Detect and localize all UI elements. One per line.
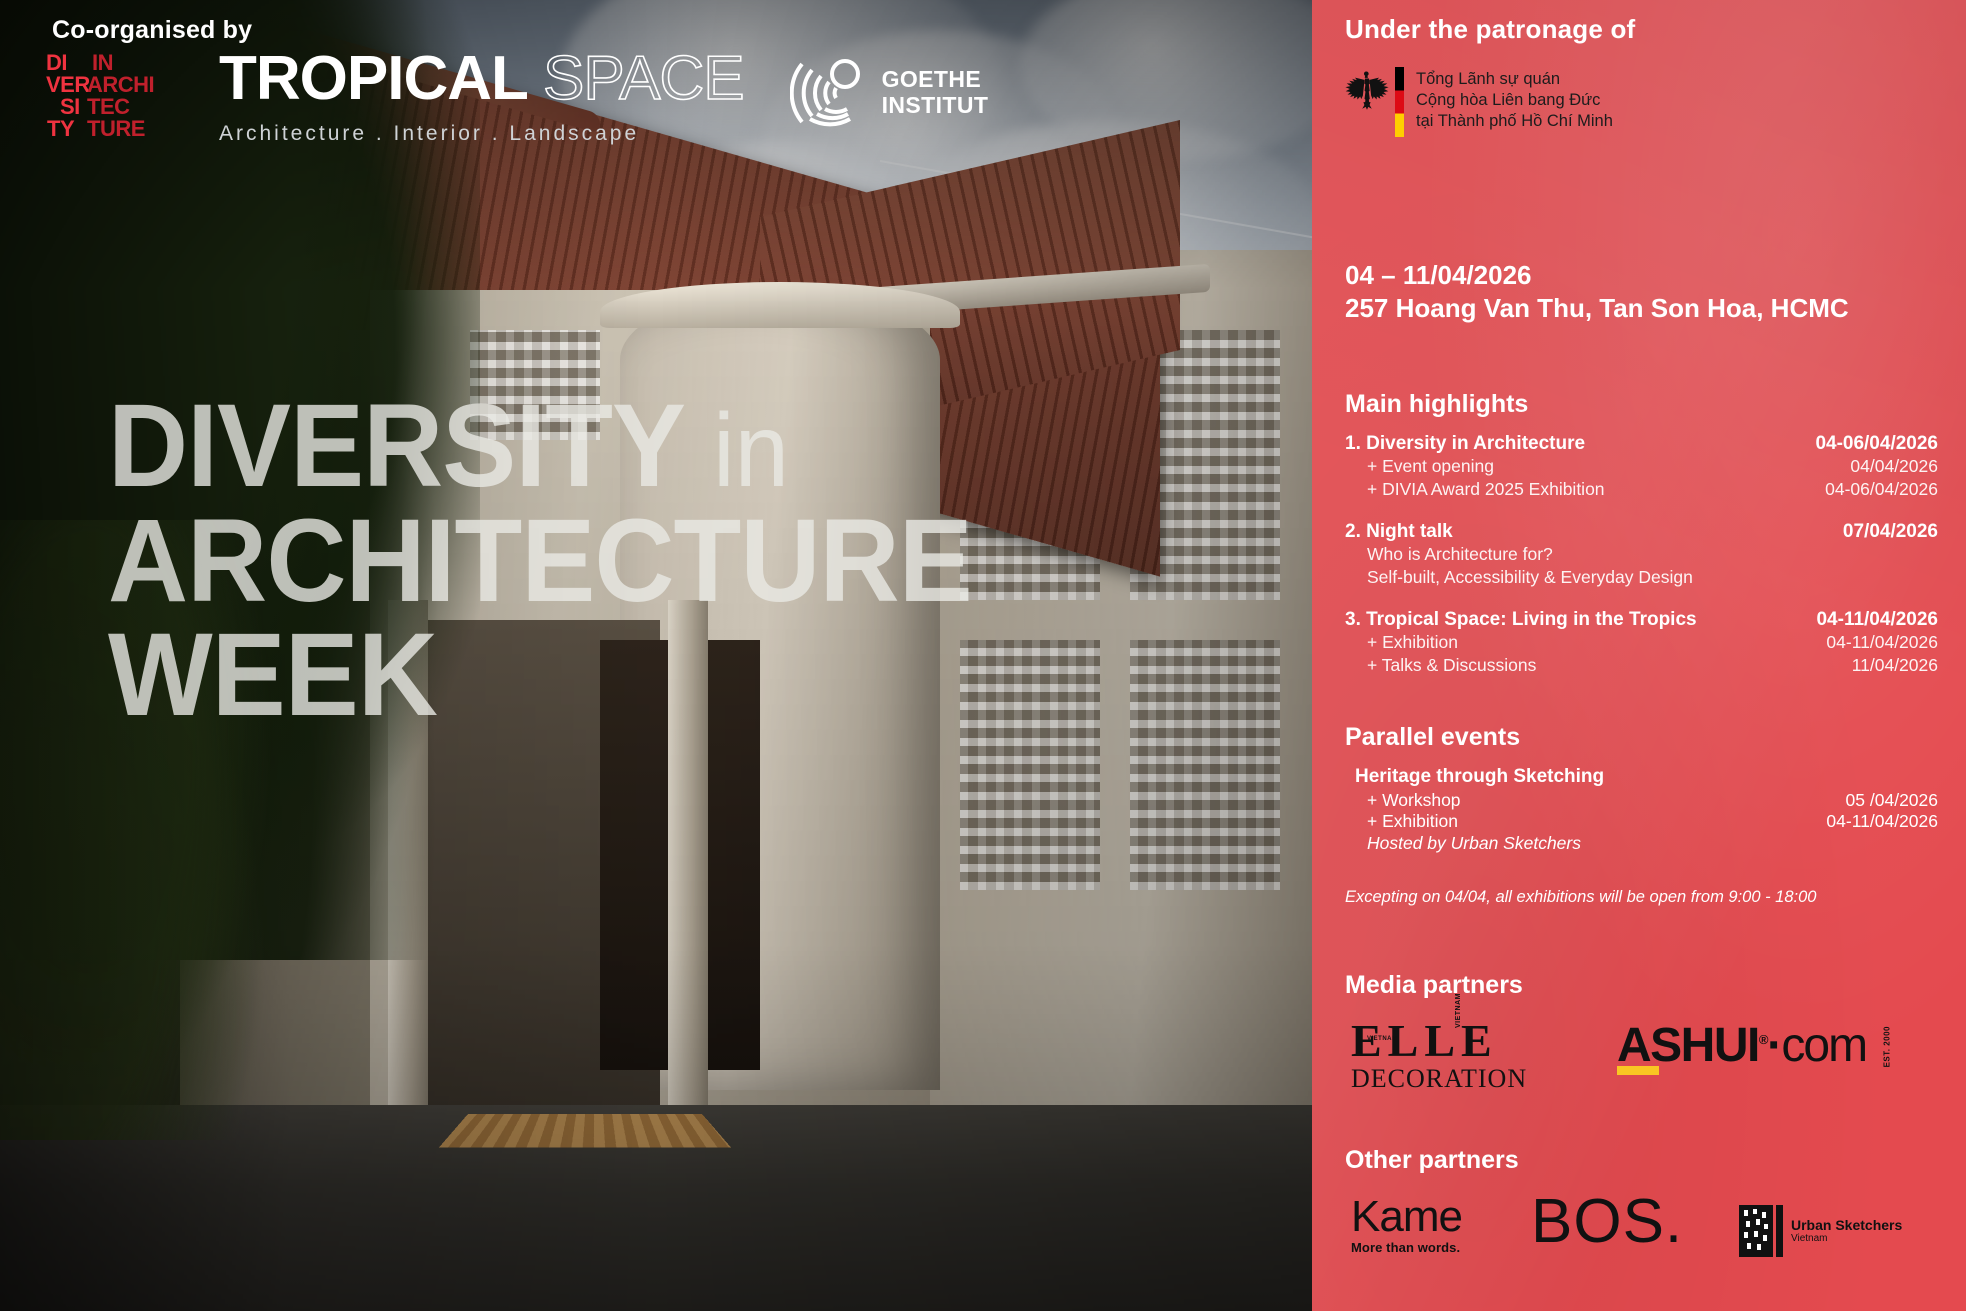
title-word-in: in xyxy=(713,393,789,509)
tropical-space-tagline: Architecture . Interior . Landscape xyxy=(219,122,744,146)
tropical-space-logo: TROPICAL SPACE Architecture . Interior .… xyxy=(219,48,744,146)
consulate-line-2: Cộng hòa Liên bang Đức xyxy=(1416,90,1613,111)
parallel-event-row-2-date: 04-11/04/2026 xyxy=(1826,811,1938,832)
divia-left-line-1: DI xyxy=(46,52,67,74)
urban-sketchers-bar xyxy=(1776,1205,1783,1257)
highlight-1-sub-1-label: + Event opening xyxy=(1367,455,1494,478)
consulate-line-3: tại Thành phố Hồ Chí Minh xyxy=(1416,111,1613,132)
goethe-arcs-icon xyxy=(790,56,868,130)
event-address: 257 Hoang Van Thu, Tan Son Hoa, HCMC xyxy=(1345,292,1938,325)
parallel-event-host: Hosted by Urban Sketchers xyxy=(1345,833,1938,854)
elle-decoration-logo: ELLE VIETNAM VIETNAM DECORATION xyxy=(1351,1018,1527,1092)
media-partners-logos: ELLE VIETNAM VIETNAM DECORATION ASHUI®·c… xyxy=(1345,1014,1938,1100)
ashui-wordmark: ASHUI®·com xyxy=(1617,1022,1866,1070)
consulate-line-1: Tổng Lãnh sự quán xyxy=(1416,69,1613,90)
german-consulate-block: Tổng Lãnh sự quán Cộng hòa Liên bang Đức… xyxy=(1345,67,1938,137)
parallel-event-row-1-label: + Workshop xyxy=(1367,790,1461,811)
urban-sketchers-wordmark: Urban Sketchers Vietnam xyxy=(1791,1218,1902,1244)
ashui-com-logo: ASHUI®·com EST. 2000 xyxy=(1617,1022,1866,1075)
highlight-3-sub-1: + Exhibition 04-11/04/2026 xyxy=(1345,631,1938,654)
highlight-3-sub-2-date: 11/04/2026 xyxy=(1852,654,1938,677)
ashui-dot: · xyxy=(1767,1019,1781,1072)
poster: Co-organised by DI VER SI TY IN ARCHI TE… xyxy=(0,0,1966,1311)
patronage-title: Under the patronage of xyxy=(1345,14,1938,45)
elle-country-left: VIETNAM xyxy=(1367,1036,1398,1042)
highlight-1-sub-2-label: + DIVIA Award 2025 Exhibition xyxy=(1367,478,1605,501)
highlight-2-line-1: Who is Architecture for? xyxy=(1345,543,1938,566)
highlight-3-sub-1-date: 04-11/04/2026 xyxy=(1826,631,1938,654)
kame-logo: Kame More than words. xyxy=(1351,1195,1462,1255)
german-flag-bar xyxy=(1395,67,1404,137)
highlight-3-sub-1-label: + Exhibition xyxy=(1367,631,1458,654)
highlight-item-1: 1. Diversity in Architecture 04-06/04/20… xyxy=(1345,433,1938,501)
highlight-1-date: 04-06/04/2026 xyxy=(1815,433,1938,455)
elle-wordmark: ELLE VIETNAM VIETNAM xyxy=(1351,1018,1527,1064)
highlight-3-title-row: 3. Tropical Space: Living in the Tropics… xyxy=(1345,609,1938,631)
elle-country-right: VIETNAM xyxy=(1455,993,1462,1028)
highlight-2-title: 2. Night talk xyxy=(1345,521,1453,543)
event-when-where: 04 – 11/04/2026 257 Hoang Van Thu, Tan S… xyxy=(1345,259,1938,326)
goethe-institut-logo: GOETHE INSTITUT xyxy=(790,56,989,130)
organiser-logo-bar: DI VER SI TY IN ARCHI TEC TURE TROPICAL … xyxy=(46,52,988,150)
other-partners-heading: Other partners xyxy=(1345,1146,1938,1175)
title-word-diversity: DIVERSITY xyxy=(108,380,683,512)
urban-sketchers-mark-icon xyxy=(1739,1205,1773,1257)
title-line-1: DIVERSITY in xyxy=(108,392,1217,501)
divia-left-line-4: TY xyxy=(47,118,74,140)
co-organised-label: Co-organised by xyxy=(52,16,252,45)
tropical-word: TROPICAL xyxy=(219,44,527,113)
media-partners-heading: Media partners xyxy=(1345,971,1938,1000)
space-word: SPACE xyxy=(543,44,744,113)
german-eagle-icon xyxy=(1345,67,1389,113)
ashui-bold: ASHUI xyxy=(1617,1019,1759,1072)
highlight-2-line-2: Self-built, Accessibility & Everyday Des… xyxy=(1345,566,1938,589)
spacer xyxy=(1345,589,1938,607)
parallel-event-row-2-label: + Exhibition xyxy=(1367,811,1458,832)
divia-logo: DI VER SI TY IN ARCHI TEC TURE xyxy=(46,52,171,142)
divia-right-line-1: IN xyxy=(92,52,113,74)
urban-sketchers-logo: Urban Sketchers Vietnam xyxy=(1739,1205,1902,1257)
page-title: DIVERSITY in ARCHITECTURE WEEK xyxy=(108,392,1288,730)
highlight-1-sub-1-date: 04/04/2026 xyxy=(1850,455,1938,478)
ashui-com: com xyxy=(1781,1019,1866,1072)
urban-sketchers-name: Urban Sketchers xyxy=(1791,1218,1902,1233)
kame-tagline: More than words. xyxy=(1351,1240,1462,1255)
opening-hours-note: Excepting on 04/04, all exhibitions will… xyxy=(1345,888,1938,907)
highlight-2-title-row: 2. Night talk 07/04/2026 xyxy=(1345,521,1938,543)
highlight-1-title: 1. Diversity in Architecture xyxy=(1345,433,1585,455)
bos-logo: BOS. xyxy=(1531,1191,1683,1253)
highlight-1-title-row: 1. Diversity in Architecture 04-06/04/20… xyxy=(1345,433,1938,455)
parallel-events-heading: Parallel events xyxy=(1345,723,1938,752)
divia-right-line-4: TURE xyxy=(87,118,145,140)
urban-sketchers-country: Vietnam xyxy=(1791,1233,1902,1244)
highlight-2-date: 07/04/2026 xyxy=(1843,521,1938,543)
highlight-3-sub-2: + Talks & Discussions 11/04/2026 xyxy=(1345,654,1938,677)
ashui-established: EST. 2000 xyxy=(1882,1026,1891,1067)
highlight-1-sub-1: + Event opening 04/04/2026 xyxy=(1345,455,1938,478)
highlight-3-sub-2-label: + Talks & Discussions xyxy=(1367,654,1536,677)
goethe-line-1: GOETHE xyxy=(882,67,989,93)
parallel-event-name: Heritage through Sketching xyxy=(1345,766,1938,788)
highlight-1-sub-2: + DIVIA Award 2025 Exhibition 04-06/04/2… xyxy=(1345,478,1938,501)
highlight-3-date: 04-11/04/2026 xyxy=(1816,609,1938,631)
highlight-item-2: 2. Night talk 07/04/2026 Who is Architec… xyxy=(1345,521,1938,589)
title-line-2: ARCHITECTURE xyxy=(108,507,1217,616)
info-panel: Under the patronage of Tổng Lãnh sự quán… xyxy=(1312,0,1966,1311)
consulate-text: Tổng Lãnh sự quán Cộng hòa Liên bang Đức… xyxy=(1416,67,1613,132)
goethe-line-2: INSTITUT xyxy=(882,93,989,119)
other-partners-logos: Kame More than words. BOS. xyxy=(1345,1189,1938,1289)
parallel-event-row-1-date: 05 /04/2026 xyxy=(1846,790,1938,811)
elle-decoration-word: DECORATION xyxy=(1351,1066,1527,1092)
highlight-3-title: 3. Tropical Space: Living in the Tropics xyxy=(1345,609,1697,631)
event-dates: 04 – 11/04/2026 xyxy=(1345,259,1938,292)
goethe-institut-wordmark: GOETHE INSTITUT xyxy=(882,67,989,119)
tropical-space-wordmark: TROPICAL SPACE xyxy=(219,48,744,110)
divia-left-line-3: SI xyxy=(60,96,80,118)
parallel-event-row-1: + Workshop 05 /04/2026 xyxy=(1345,790,1938,811)
parallel-event-row-2: + Exhibition 04-11/04/2026 xyxy=(1345,811,1938,832)
title-line-3: WEEK xyxy=(108,621,1217,730)
ashui-registered: ® xyxy=(1759,1032,1767,1047)
divia-right-line-3: TEC xyxy=(87,96,130,118)
divia-right-line-2: ARCHI xyxy=(87,74,154,96)
main-highlights-heading: Main highlights xyxy=(1345,390,1938,419)
spacer xyxy=(1345,501,1938,519)
highlight-item-3: 3. Tropical Space: Living in the Tropics… xyxy=(1345,609,1938,677)
divia-left-line-2: VER xyxy=(46,74,90,96)
highlight-1-sub-2-date: 04-06/04/2026 xyxy=(1825,478,1938,501)
kame-wordmark: Kame xyxy=(1351,1195,1462,1239)
